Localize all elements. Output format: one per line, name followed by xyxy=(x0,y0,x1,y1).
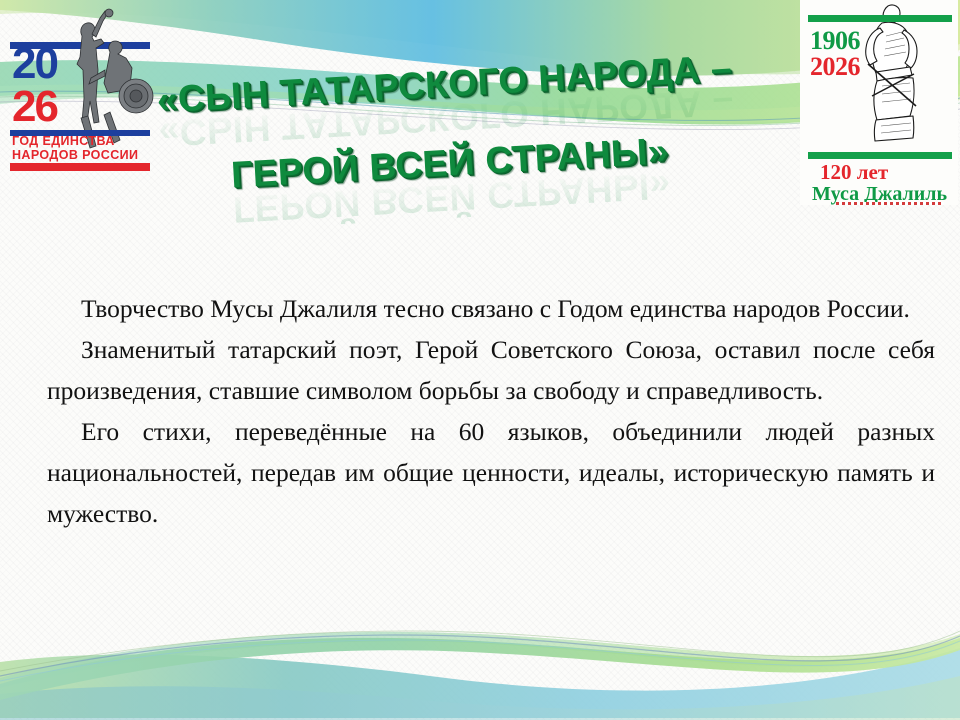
slide-title: «СЫН ТАТАРСКОГО НАРОДА – «СЫН ТАТАРСКОГО… xyxy=(146,44,794,249)
body-paragraph-2: Знаменитый татарский поэт, Герой Советск… xyxy=(47,329,935,411)
logo-right-bar-bottom xyxy=(808,152,952,159)
body-text-block: Творчество Мусы Джалиля тесно связано с … xyxy=(47,288,935,534)
logo-left-year: 20 26 xyxy=(12,42,90,128)
slide-canvas: 20 26 ГОД ЕДИНСТВА НАРОДОВ РОССИИ «СЫН Т… xyxy=(0,0,960,720)
logo-right-year-to: 2026 xyxy=(810,52,860,82)
body-paragraph-3: Его стихи, переведённые на 60 языков, об… xyxy=(47,411,935,534)
logo-right-anniversary: 120 лет xyxy=(820,160,888,185)
logo-left-year-20: 20 xyxy=(12,42,90,85)
title-line-2: ГЕРОЙ ВСЕЙ СТРАНЫ» xyxy=(150,123,791,201)
ornament-divider xyxy=(836,202,944,205)
logo-left-year-26: 26 xyxy=(12,85,90,128)
logo-left-caption-line1: ГОД ЕДИНСТВА xyxy=(12,134,152,148)
logo-right-bar-top xyxy=(808,15,952,22)
logo-musa-dzhalil-120: 1906 2026 120 лет Муса Джалиль xyxy=(800,0,958,205)
logo-left-caption-line2: НАРОДОВ РОССИИ xyxy=(12,148,152,162)
body-paragraph-1: Творчество Мусы Джалиля тесно связано с … xyxy=(47,288,935,329)
logo-left-bar-bottom xyxy=(10,163,150,171)
logo-year-of-unity-2026: 20 26 ГОД ЕДИНСТВА НАРОДОВ РОССИИ xyxy=(4,8,156,170)
logo-left-caption: ГОД ЕДИНСТВА НАРОДОВ РОССИИ xyxy=(12,134,152,162)
